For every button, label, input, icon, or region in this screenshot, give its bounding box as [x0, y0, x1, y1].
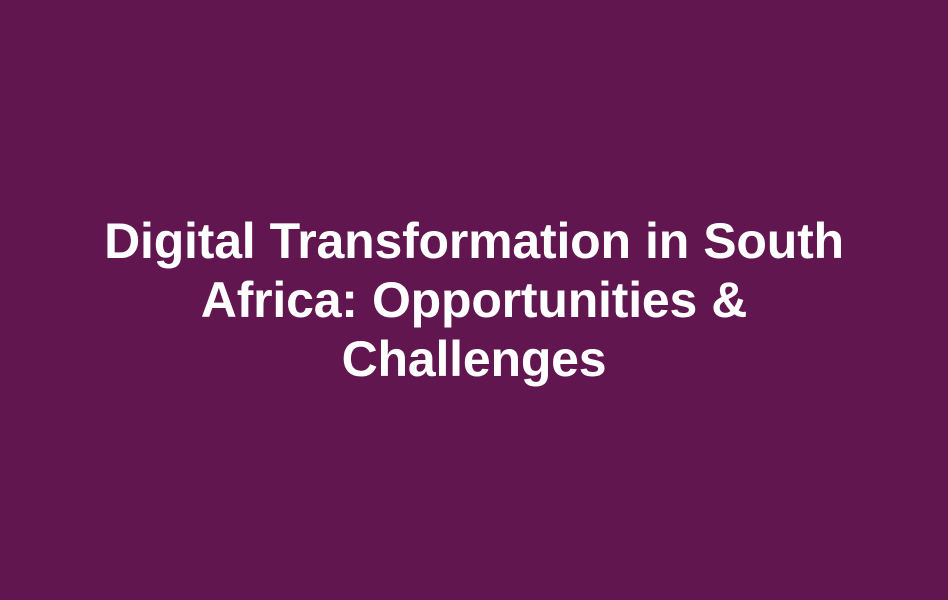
- title-card: Digital Transformation in South Africa: …: [0, 0, 948, 600]
- page-title: Digital Transformation in South Africa: …: [104, 212, 844, 389]
- hero-heading-container: Digital Transformation in South Africa: …: [0, 212, 948, 389]
